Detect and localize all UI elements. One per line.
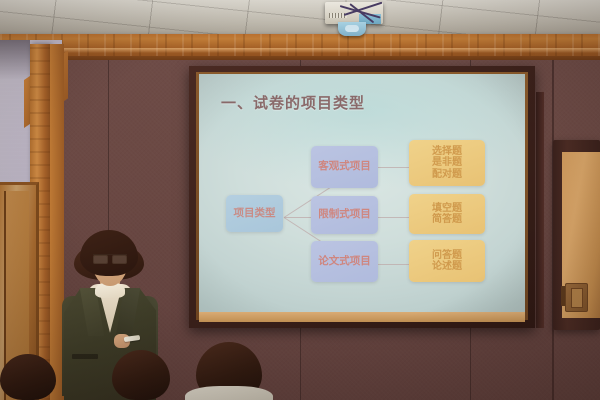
audience-member-right (196, 342, 262, 400)
screen-bottom-band (199, 312, 525, 322)
audience-member-center (112, 350, 170, 400)
presenter-hair (80, 230, 138, 276)
projector-lens (338, 22, 366, 36)
audience-shoulder (185, 386, 272, 400)
molding-highlight (0, 48, 600, 53)
presenter-pocket (72, 354, 98, 359)
audience-head (0, 354, 56, 400)
classroom-photo: 一、试卷的项目类型 项目类型 客观式项目 限制式项目 论文式项目 (0, 0, 600, 400)
screen-vignette (199, 74, 525, 314)
presenter-glasses (93, 254, 127, 263)
right-panel-edge (536, 92, 544, 328)
left-wall-shadow (0, 40, 30, 80)
wall-control-panel[interactable] (565, 283, 588, 312)
audience-head (112, 350, 170, 400)
projection-screen: 一、试卷的项目类型 项目类型 客观式项目 限制式项目 论文式项目 (199, 74, 525, 314)
audience-member-left (0, 354, 56, 400)
